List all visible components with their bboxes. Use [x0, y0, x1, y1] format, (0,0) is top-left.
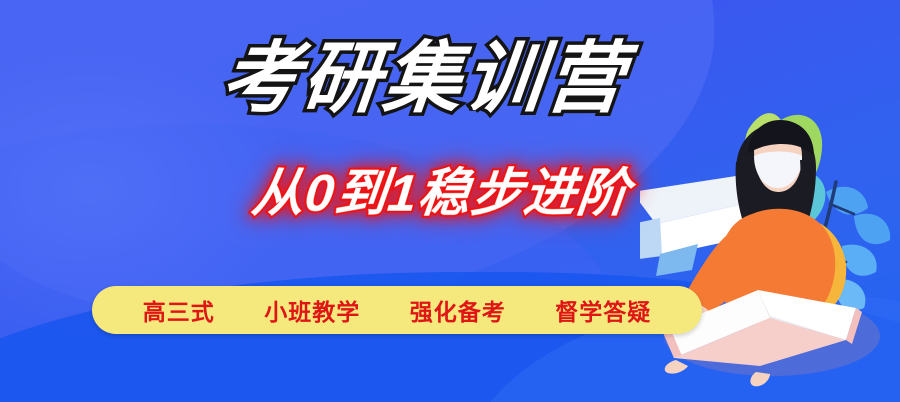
feature-item-4: 督学答疑 — [555, 293, 651, 327]
feature-item-2: 小班教学 — [264, 293, 360, 327]
feature-item-1: 高三式 — [143, 293, 215, 327]
page-title: 考研集训营 — [218, 36, 632, 120]
feature-pill: 高三式 小班教学 强化备考 督学答疑 — [92, 286, 702, 334]
course-promo-banner: 考研集训营 从0到1稳步进阶 高三式 小班教学 强化备考 督学答疑 — [0, 0, 900, 402]
student-reading-illustration — [640, 104, 900, 394]
feature-item-3: 强化备考 — [410, 293, 506, 327]
page-subtitle: 从0到1稳步进阶 — [249, 166, 633, 223]
